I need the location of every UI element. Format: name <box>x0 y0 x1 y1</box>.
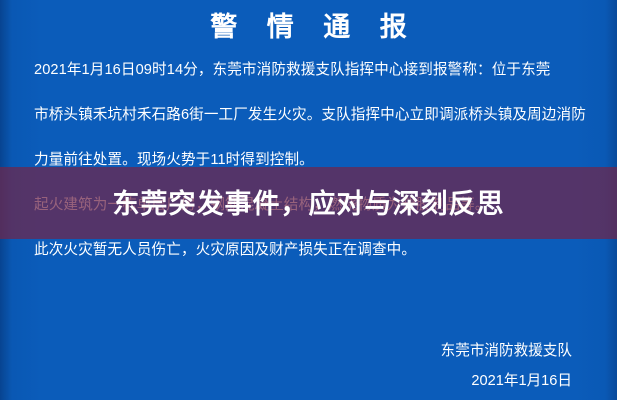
body-paragraph-2: 市桥头镇禾坑村禾石路6街一工厂发生火灾。支队指挥中心立即调派桥头镇及周边消防 <box>34 103 590 128</box>
police-notice-poster: 警 情 通 报 2021年1月16日09时14分，东莞市消防救援支队指挥中心接到… <box>0 0 617 400</box>
page-title: 警 情 通 报 <box>0 8 617 46</box>
overlay-headline-band: 东莞突发事件，应对与深刻反思 <box>0 167 617 239</box>
signature-organization: 东莞市消防救援支队 <box>441 336 572 366</box>
body-paragraph-1: 2021年1月16日09时14分，东莞市消防救援支队指挥中心接到报警称：位于东莞 <box>34 58 590 83</box>
signature-date: 2021年1月16日 <box>441 366 572 396</box>
signature-block: 东莞市消防救援支队 2021年1月16日 <box>441 336 572 396</box>
overlay-headline-text: 东莞突发事件，应对与深刻反思 <box>113 188 505 220</box>
body-paragraph-5: 此次火灾暂无人员伤亡，火灾原因及财产损失正在调查中。 <box>34 238 590 263</box>
